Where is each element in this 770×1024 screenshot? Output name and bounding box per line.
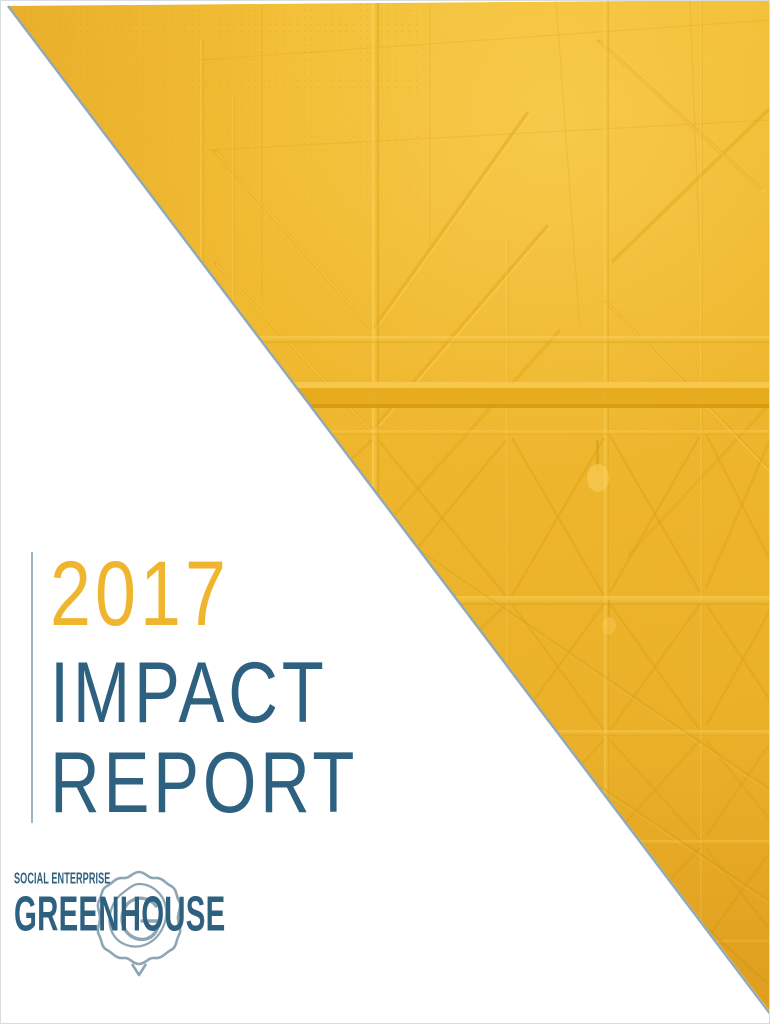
- cover-title-block: 2017 IMPACT REPORT: [31, 552, 435, 823]
- cover-page: 2017 IMPACT REPORT SOCIAL ENTERPRISE GRE…: [0, 0, 770, 1024]
- logo-tagline: SOCIAL ENTERPRISE: [14, 869, 119, 887]
- organization-logo: SOCIAL ENTERPRISE GREENHOUSE: [14, 866, 186, 990]
- cover-year: 2017: [50, 552, 358, 638]
- title-lines: 2017 IMPACT REPORT: [33, 552, 435, 823]
- logo-wordmark: SOCIAL ENTERPRISE GREENHOUSE: [14, 872, 164, 932]
- cover-title-line-1: IMPACT: [50, 654, 358, 734]
- cover-title-line-2: REPORT: [50, 744, 358, 824]
- logo-name: GREENHOUSE: [14, 890, 119, 939]
